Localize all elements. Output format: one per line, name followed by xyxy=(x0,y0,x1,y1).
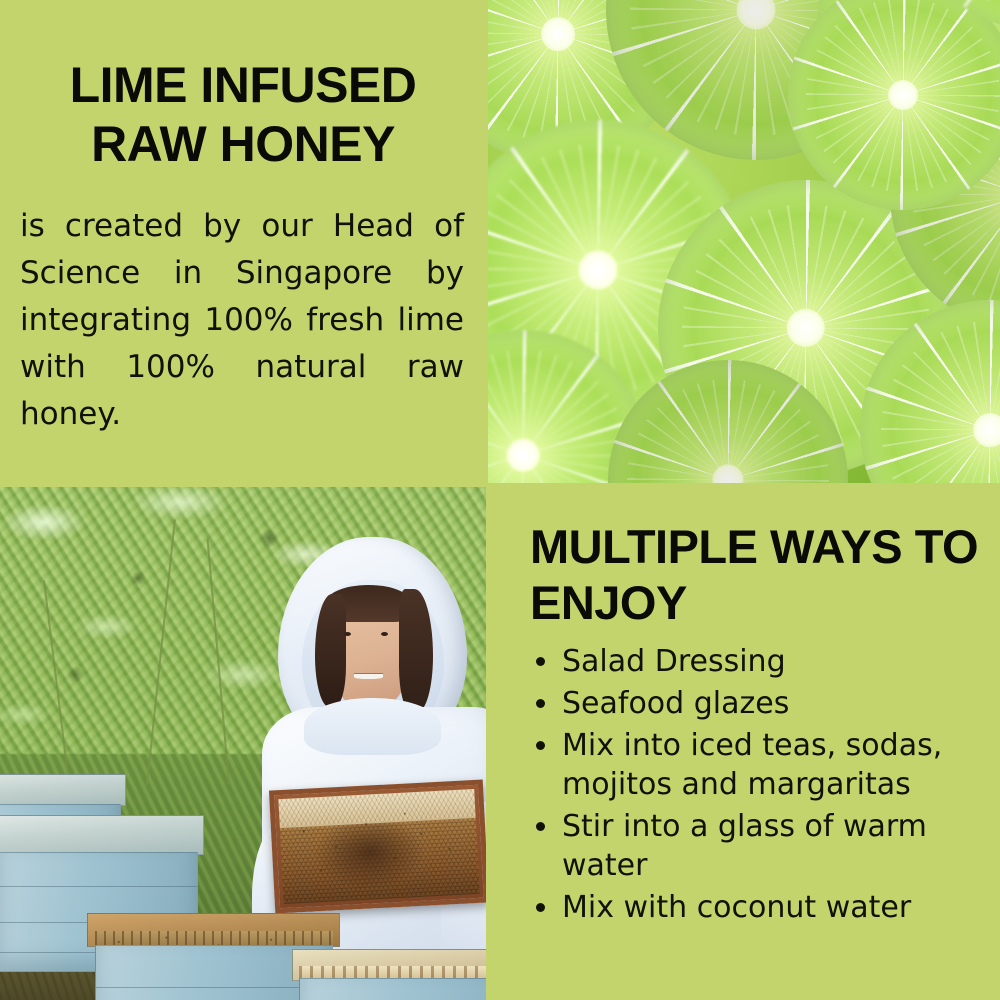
list-item: Mix into iced teas, sodas, mojitos and m… xyxy=(534,726,992,804)
top-left-text-panel: LIME INFUSED RAW HONEY is created by our… xyxy=(0,0,486,483)
list-item: Salad Dressing xyxy=(534,642,992,681)
eye-left xyxy=(344,632,351,636)
hair-left xyxy=(315,594,346,707)
page-title: LIME INFUSED RAW HONEY xyxy=(0,0,486,173)
lime-slices-photo xyxy=(488,0,1000,483)
bees-on-frame xyxy=(279,788,480,903)
uses-list: Salad Dressing Seafood glazes Mix into i… xyxy=(488,642,1000,927)
lime-photo-art xyxy=(488,0,1000,483)
product-description: is created by our Head of Science in Sin… xyxy=(0,173,486,439)
list-item: Stir into a glass of warm water xyxy=(534,807,992,885)
bottom-right-text-panel: MULTIPLE WAYS TO ENJOY Salad Dressing Se… xyxy=(488,487,1000,1000)
list-item: Seafood glazes xyxy=(534,684,992,723)
eye-right xyxy=(381,632,388,636)
suit-collar xyxy=(304,698,440,755)
poster-canvas: LIME INFUSED RAW HONEY is created by our… xyxy=(0,0,1000,1000)
list-item: Mix with coconut water xyxy=(534,888,992,927)
beekeeper-photo-art xyxy=(0,487,486,1000)
honeycomb-frame xyxy=(269,779,486,913)
beekeeper-photo xyxy=(0,487,486,1000)
uses-title: MULTIPLE WAYS TO ENJOY xyxy=(488,487,1000,632)
beehive-box-front xyxy=(292,949,486,1000)
